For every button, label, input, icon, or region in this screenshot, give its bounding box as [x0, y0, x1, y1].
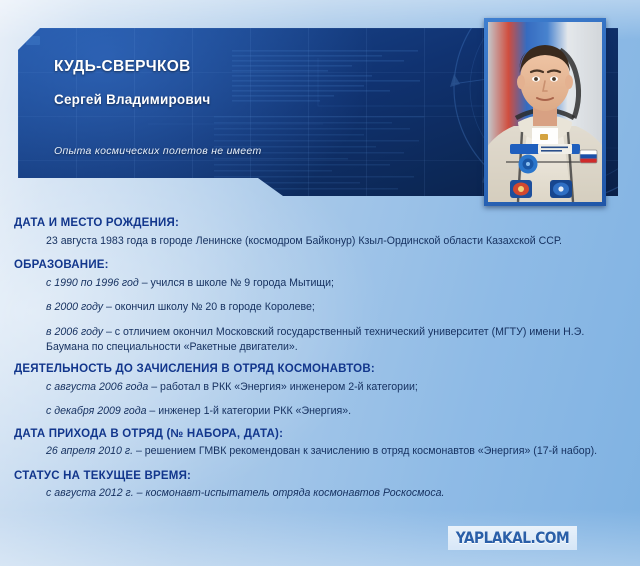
paragraph-italic-lead: с декабря 2009 года — [46, 405, 146, 417]
paragraph-text: с августа 2012 г. – космонавт-испытатель… — [46, 487, 444, 499]
paragraph: с 1990 по 1996 год – учился в школе № 9 … — [46, 276, 618, 291]
section-heading: ОБРАЗОВАНИЕ: — [0, 258, 640, 276]
page-root: КУДЬ-СВЕРЧКОВ Сергей Владимирович Опыта … — [0, 0, 640, 566]
section-current-status: СТАТУС НА ТЕКУЩЕЕ ВРЕМЯ: с августа 2012 … — [0, 469, 640, 502]
paragraph-text: 23 августа 1983 года в городе Ленинске (… — [46, 235, 562, 247]
paragraph: 26 апреля 2010 г. – решением ГМВК рекоме… — [46, 444, 618, 459]
flight-experience-note: Опыта космических полетов не имеет — [54, 145, 384, 157]
paragraph: с декабря 2009 года – инженер 1-й катего… — [46, 404, 618, 419]
header-banner: КУДЬ-СВЕРЧКОВ Сергей Владимирович Опыта … — [0, 0, 640, 212]
section-education: ОБРАЗОВАНИЕ: с 1990 по 1996 год – учился… — [0, 258, 640, 355]
paragraph-italic-lead: в 2006 году — [46, 326, 103, 338]
banner-text-block: КУДЬ-СВЕРЧКОВ Сергей Владимирович Опыта … — [54, 58, 384, 157]
cosmonaut-surname: КУДЬ-СВЕРЧКОВ — [54, 58, 384, 76]
section-body: с августа 2006 года – работал в РКК «Эне… — [0, 380, 640, 420]
paragraph: с августа 2012 г. – космонавт-испытатель… — [46, 486, 618, 501]
paragraph-text: – окончил школу № 20 в городе Королеве; — [103, 301, 315, 313]
section-heading: ДАТА И МЕСТО РОЖДЕНИЯ: — [0, 216, 640, 234]
paragraph: 23 августа 1983 года в городе Ленинске (… — [46, 234, 618, 249]
paragraph-text: – решением ГМВК рекомендован к зачислени… — [133, 445, 597, 457]
cosmonaut-given-name: Сергей Владимирович — [54, 92, 384, 107]
paragraph-italic-lead: с 1990 по 1996 год — [46, 277, 139, 289]
paragraph-text: – с отличием окончил Московский государс… — [46, 326, 584, 353]
paragraph-text: – учился в школе № 9 города Мытищи; — [139, 277, 334, 289]
paragraph-italic-lead: с августа 2006 года — [46, 381, 148, 393]
section-birth: ДАТА И МЕСТО РОЖДЕНИЯ: 23 августа 1983 г… — [0, 216, 640, 249]
paragraph-text: – инженер 1-й категории РКК «Энергия». — [146, 405, 351, 417]
section-body: с августа 2012 г. – космонавт-испытатель… — [0, 486, 640, 501]
paragraph-italic-lead: в 2000 году — [46, 301, 103, 313]
paragraph: в 2006 году – с отличием окончил Московс… — [46, 325, 618, 356]
cosmonaut-photo — [488, 22, 602, 202]
section-heading: ДАТА ПРИХОДА В ОТРЯД (№ НАБОРА, ДАТА): — [0, 427, 640, 445]
section-heading: ДЕЯТЕЛЬНОСТЬ ДО ЗАЧИСЛЕНИЯ В ОТРЯД КОСМО… — [0, 362, 640, 380]
biography-content: ДАТА И МЕСТО РОЖДЕНИЯ: 23 августа 1983 г… — [0, 216, 640, 511]
paragraph: с августа 2006 года – работал в РКК «Эне… — [46, 380, 618, 395]
section-heading: СТАТУС НА ТЕКУЩЕЕ ВРЕМЯ: — [0, 469, 640, 487]
section-corps-entry-date: ДАТА ПРИХОДА В ОТРЯД (№ НАБОРА, ДАТА): 2… — [0, 427, 640, 460]
paragraph: в 2000 году – окончил школу № 20 в город… — [46, 300, 618, 315]
section-body: 26 апреля 2010 г. – решением ГМВК рекоме… — [0, 444, 640, 459]
site-watermark: YAPLAKAL.COM — [448, 526, 577, 550]
section-body: с 1990 по 1996 год – учился в школе № 9 … — [0, 276, 640, 355]
section-pre-corps-activity: ДЕЯТЕЛЬНОСТЬ ДО ЗАЧИСЛЕНИЯ В ОТРЯД КОСМО… — [0, 362, 640, 419]
paragraph-italic-lead: 26 апреля 2010 г. — [46, 445, 133, 457]
section-body: 23 августа 1983 года в городе Ленинске (… — [0, 234, 640, 249]
cosmonaut-photo-frame — [484, 18, 606, 206]
paragraph-text: – работал в РКК «Энергия» инженером 2-й … — [148, 381, 418, 393]
